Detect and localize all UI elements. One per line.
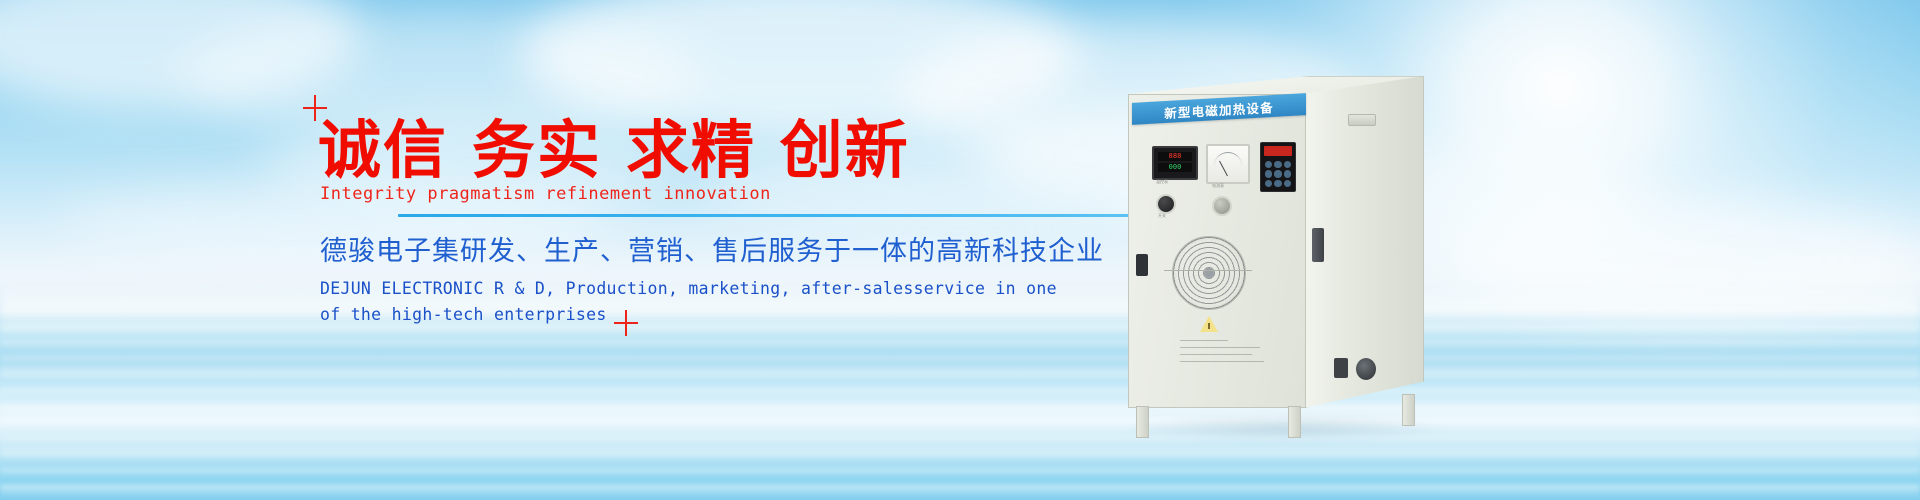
body-english-line-2: of the high-tech enterprises <box>320 302 1057 328</box>
cabinet-leg <box>1288 406 1301 438</box>
keypad-buttons <box>1265 161 1291 187</box>
meter-scale-arc <box>1214 152 1242 167</box>
adjust-knob <box>1212 196 1232 216</box>
headline-chinese: 诚信 务实 求精 创新 <box>318 119 910 182</box>
headline-english: Integrity pragmatism refinement innovati… <box>320 186 771 203</box>
keypad-display <box>1264 146 1292 156</box>
side-handle <box>1312 228 1324 262</box>
hero-banner: 诚信 务实 求精 创新 Integrity pragmatism refinem… <box>0 0 1920 500</box>
power-knob <box>1156 194 1176 214</box>
digital-temperature-meter: 888 000 <box>1152 146 1198 180</box>
front-switch <box>1136 254 1148 276</box>
warning-triangle-icon <box>1200 316 1218 332</box>
spec-label <box>1180 340 1266 382</box>
subtitle-chinese: 德骏电子集研发、生产、营销、售后服务于一体的高新科技企业 <box>320 238 1104 265</box>
digital-readout-top: 888 <box>1158 152 1192 161</box>
divider <box>398 214 1210 217</box>
analog-ammeter <box>1206 144 1250 184</box>
label-analog-meter: 电流表 <box>1212 183 1224 189</box>
body-english: DEJUN ELECTRONIC R & D, Production, mark… <box>320 276 1057 328</box>
product-banner-text: 新型电磁加热设备 <box>1164 96 1274 121</box>
product-image: 新型电磁加热设备 888 000 温控表 电流表 开关 <box>1120 58 1460 458</box>
cabinet-leg <box>1136 406 1149 438</box>
fan-mount-bar <box>1164 270 1252 271</box>
top-handle <box>1348 114 1376 126</box>
cooling-fan-grille <box>1172 236 1246 310</box>
body-english-line-1: DEJUN ELECTRONIC R & D, Production, mark… <box>320 276 1057 302</box>
control-keypad <box>1260 142 1296 192</box>
side-port <box>1334 358 1348 378</box>
label-digital-meter: 温控表 <box>1156 179 1168 185</box>
digital-readout-bottom: 000 <box>1158 163 1192 172</box>
cabinet-leg <box>1402 394 1415 426</box>
water-streaks <box>0 300 1920 500</box>
side-cable-port <box>1356 358 1376 380</box>
